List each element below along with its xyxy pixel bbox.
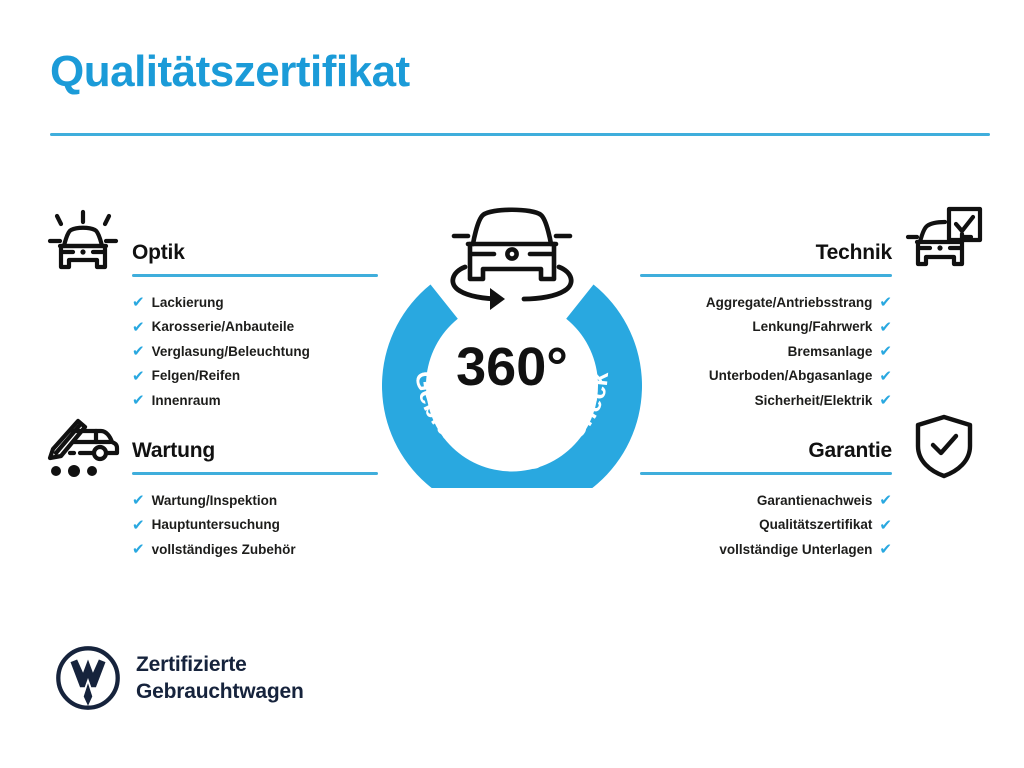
check-icon: ✔	[879, 493, 892, 508]
car-lift-service-icon	[44, 412, 122, 483]
check-icon: ✔	[132, 369, 145, 384]
check-icon: ✔	[132, 295, 145, 310]
list-item-label: vollständiges Zubehör	[152, 538, 296, 563]
list-item: ✔Verglasung/Beleuchtung	[132, 340, 378, 365]
car-front-shine-icon	[44, 206, 122, 283]
check-icon: ✔	[132, 518, 145, 533]
list-item-label: Garantienachweis	[757, 489, 873, 514]
check-icon: ✔	[132, 393, 145, 408]
list-item: Bremsanlage✔	[640, 340, 892, 365]
list-item: vollständige Unterlagen✔	[640, 538, 892, 563]
list-item: Garantienachweis✔	[640, 489, 892, 514]
car-rotate-360-icon	[453, 210, 571, 310]
list-item-label: Verglasung/Beleuchtung	[152, 340, 310, 365]
list-item-label: vollständige Unterlagen	[719, 538, 872, 563]
section-technik-header: Technik	[640, 238, 892, 272]
section-garantie-divider	[640, 472, 892, 475]
list-item-label: Qualitätszertifikat	[759, 513, 872, 538]
list-item-label: Innenraum	[152, 389, 221, 414]
section-technik-divider	[640, 274, 892, 277]
car-front-checkbox-icon	[904, 206, 984, 283]
list-item: ✔Lackierung	[132, 291, 378, 316]
section-garantie: Garantie Garantienachweis✔ Qualitätszert…	[640, 436, 892, 562]
list-item: ✔Felgen/Reifen	[132, 364, 378, 389]
shield-check-icon	[908, 410, 980, 487]
section-optik: Optik ✔Lackierung ✔Karosserie/Anbauteile…	[132, 238, 378, 413]
check-icon: ✔	[879, 369, 892, 384]
section-technik: Technik Aggregate/Antriebsstrang✔ Lenkun…	[640, 238, 892, 413]
list-item-label: Unterboden/Abgasanlage	[709, 364, 873, 389]
section-garantie-list: Garantienachweis✔ Qualitätszertifikat✔ v…	[640, 489, 892, 563]
list-item: ✔Hauptuntersuchung	[132, 513, 378, 538]
list-item: Aggregate/Antriebsstrang✔	[640, 291, 892, 316]
page-title: Qualitätszertifikat	[50, 50, 410, 94]
footer-line-1: Zertifizierte	[136, 651, 304, 678]
volkswagen-logo	[55, 645, 121, 711]
list-item-label: Wartung/Inspektion	[152, 489, 278, 514]
list-item: ✔Wartung/Inspektion	[132, 489, 378, 514]
list-item-label: Aggregate/Antriebsstrang	[706, 291, 873, 316]
list-item: ✔Innenraum	[132, 389, 378, 414]
list-item-label: Lenkung/Fahrwerk	[752, 315, 872, 340]
badge-center-text: 360°	[456, 337, 568, 397]
check-icon: ✔	[879, 518, 892, 533]
check-icon: ✔	[132, 320, 145, 335]
list-item-label: Hauptuntersuchung	[152, 513, 280, 538]
section-garantie-heading: Garantie	[640, 436, 892, 466]
list-item-label: Lackierung	[152, 291, 224, 316]
list-item-label: Karosserie/Anbauteile	[152, 315, 295, 340]
list-item: ✔vollständiges Zubehör	[132, 538, 378, 563]
rotation-arrowhead	[490, 288, 505, 310]
list-item: ✔Karosserie/Anbauteile	[132, 315, 378, 340]
section-wartung-list: ✔Wartung/Inspektion ✔Hauptuntersuchung ✔…	[132, 489, 378, 563]
check-icon: ✔	[879, 393, 892, 408]
footer-brand-text: Zertifizierte Gebrauchtwagen	[136, 651, 304, 705]
section-optik-heading: Optik	[132, 238, 378, 268]
check-icon: ✔	[879, 344, 892, 359]
section-wartung-heading: Wartung	[132, 436, 378, 466]
check-icon: ✔	[879, 542, 892, 557]
section-technik-list: Aggregate/Antriebsstrang✔ Lenkung/Fahrwe…	[640, 291, 892, 414]
badge-360-gebrauchtwagen-check: Gebrauchtwagen-Check 360°	[372, 192, 652, 488]
section-garantie-header: Garantie	[640, 436, 892, 470]
certificate-page: Qualitätszertifikat Optik ✔Lac	[0, 0, 1024, 768]
check-icon: ✔	[132, 344, 145, 359]
section-optik-header: Optik	[132, 238, 378, 272]
section-wartung-divider	[132, 472, 378, 475]
list-item-label: Sicherheit/Elektrik	[755, 389, 873, 414]
check-icon: ✔	[879, 295, 892, 310]
footer-line-2: Gebrauchtwagen	[136, 678, 304, 705]
check-icon: ✔	[132, 493, 145, 508]
check-icon: ✔	[879, 320, 892, 335]
list-item: Qualitätszertifikat✔	[640, 513, 892, 538]
section-optik-list: ✔Lackierung ✔Karosserie/Anbauteile ✔Verg…	[132, 291, 378, 414]
section-wartung-header: Wartung	[132, 436, 378, 470]
check-icon: ✔	[132, 542, 145, 557]
section-wartung: Wartung ✔Wartung/Inspektion ✔Hauptunters…	[132, 436, 378, 562]
footer-brand: Zertifizierte Gebrauchtwagen	[55, 645, 304, 711]
title-divider	[50, 133, 990, 136]
section-technik-heading: Technik	[640, 238, 892, 268]
list-item: Lenkung/Fahrwerk✔	[640, 315, 892, 340]
section-optik-divider	[132, 274, 378, 277]
rotation-arc-right	[524, 267, 571, 299]
list-item-label: Felgen/Reifen	[152, 364, 241, 389]
list-item: Sicherheit/Elektrik✔	[640, 389, 892, 414]
list-item: Unterboden/Abgasanlage✔	[640, 364, 892, 389]
list-item-label: Bremsanlage	[788, 340, 873, 365]
